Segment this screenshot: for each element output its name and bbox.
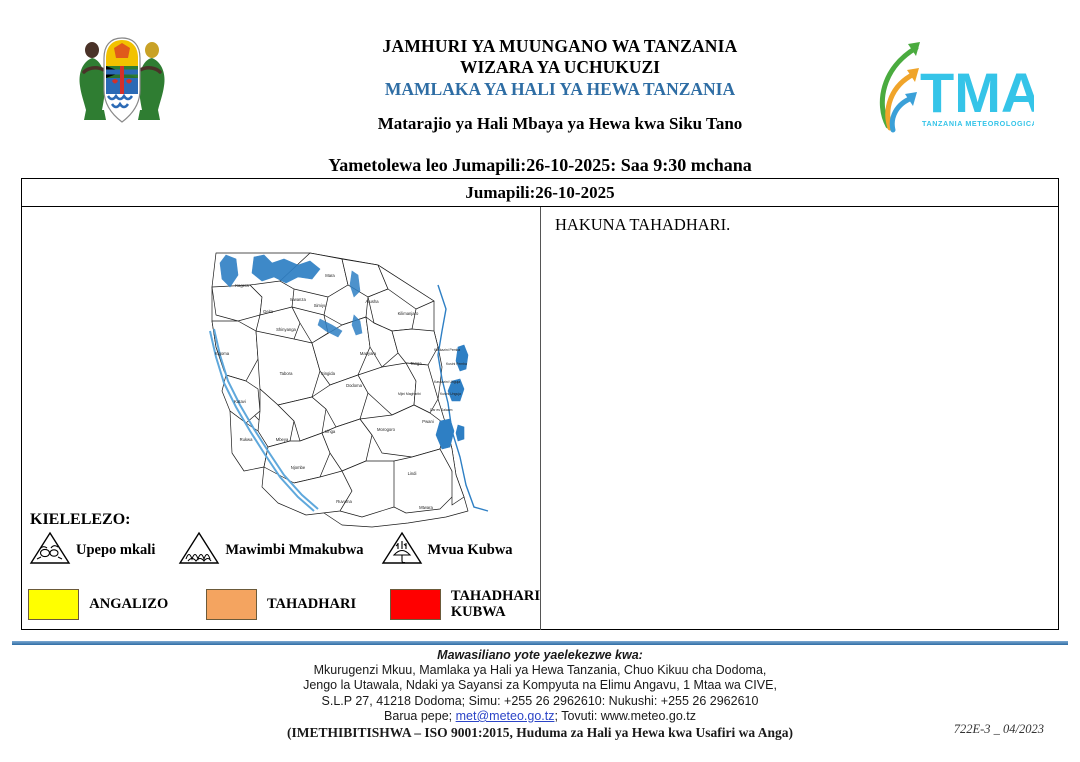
warning-text: HAKUNA TAHADHARI. (555, 215, 1058, 235)
svg-text:Arusha: Arusha (365, 299, 379, 304)
svg-text:Manyara: Manyara (360, 351, 377, 356)
map-legend: KIELELEZO: (28, 511, 540, 624)
forecast-content-row: Kagera Mara Geita Mwanza Simiyu Arusha K… (22, 207, 1058, 630)
map-panel: Kagera Mara Geita Mwanza Simiyu Arusha K… (22, 207, 541, 630)
footer-line-2: Mkurugenzi Mkuu, Mamlaka ya Hali ya Hewa… (0, 663, 1080, 678)
svg-text:Katavi: Katavi (234, 399, 246, 404)
svg-text:Pwani: Pwani (422, 419, 433, 424)
svg-text:Dar es Salaam: Dar es Salaam (430, 408, 453, 412)
svg-text:Tanga: Tanga (410, 361, 422, 366)
document-reference-code: 722E-3 _ 04/2023 (954, 722, 1044, 737)
footer-email-prefix: Barua pepe; (384, 709, 456, 723)
legend-label-heavy-rain: Mvua Kubwa (428, 542, 513, 559)
legend-label-high-waves: Mawimbi Mmakubwa (225, 542, 363, 559)
svg-text:Kigoma: Kigoma (215, 351, 230, 356)
svg-text:Ruvuma: Ruvuma (336, 499, 352, 504)
svg-text:Njombe: Njombe (291, 465, 306, 470)
header-subtitle: Matarajio ya Hali Mbaya ya Hewa kwa Siku… (250, 114, 870, 134)
legend-item-high-waves: Mawimbi Mmakubwa (177, 529, 363, 572)
svg-text:Simiyu: Simiyu (314, 303, 327, 308)
tanzania-coat-of-arms (62, 28, 182, 136)
heavy-rain-icon (380, 529, 424, 572)
header-line-2: WIZARA YA UCHUKUZI (250, 57, 870, 78)
swatch-angalizo (28, 589, 79, 620)
svg-text:Kaskazini Unguja: Kaskazini Unguja (434, 380, 460, 384)
bulletin-table: Jumapili:26-10-2025 (21, 178, 1059, 630)
header-line-1: JAMHURI YA MUUNGANO WA TANZANIA (250, 36, 870, 57)
header-titles: JAMHURI YA MUUNGANO WA TANZANIA WIZARA Y… (250, 36, 870, 134)
svg-text:Morogoro: Morogoro (377, 427, 396, 432)
svg-text:Tabora: Tabora (280, 371, 293, 376)
swatch-tahadhari (206, 589, 257, 620)
svg-text:Dodoma: Dodoma (346, 383, 362, 388)
swatch-label-angalizo: ANGALIZO (89, 596, 168, 612)
svg-text:Geita: Geita (263, 309, 274, 314)
legend-color-scale: ANGALIZO TAHADHARI TAHADHARI KUBWA (28, 584, 540, 624)
svg-text:Mbeya: Mbeya (276, 437, 289, 442)
svg-text:TMA: TMA (920, 61, 1034, 124)
footer-line-3: Jengo la Utawala, Ndaki ya Sayansi za Ko… (0, 678, 1080, 693)
svg-text:Kagera: Kagera (235, 283, 249, 288)
svg-text:TANZANIA METEOROLOGICAL AUTHOR: TANZANIA METEOROLOGICAL AUTHORITY (922, 119, 1034, 128)
footer-contact-line: Barua pepe; met@meteo.go.tz; Tovuti: www… (0, 709, 1080, 724)
footer-divider (12, 641, 1068, 645)
svg-text:Kusini Unguja: Kusini Unguja (440, 392, 461, 396)
forecast-date-header: Jumapili:26-10-2025 (22, 179, 1058, 207)
svg-text:Singida: Singida (321, 371, 336, 376)
svg-text:Rukwa: Rukwa (240, 437, 253, 442)
svg-text:Mwanza: Mwanza (290, 297, 306, 302)
legend-title: KIELELEZO: (30, 511, 540, 529)
svg-text:Shinyanga: Shinyanga (276, 327, 296, 332)
document-footer: Mawasiliano yote yaelekezwe kwa: Mkuruge… (0, 648, 1080, 740)
svg-text:Kaskazini Pemba: Kaskazini Pemba (434, 348, 460, 352)
header-line-3: MAMLAKA YA HALI YA HEWA TANZANIA (250, 78, 870, 100)
footer-iso-line: (IMETHIBITISHWA – ISO 9001:2015, Huduma … (0, 725, 1080, 740)
footer-line-4: S.L.P 27, 41218 Dodoma; Simu: +255 26 29… (0, 694, 1080, 709)
strong-wind-icon (28, 529, 72, 572)
tanzania-regions-map[interactable]: Kagera Mara Geita Mwanza Simiyu Arusha K… (177, 235, 517, 535)
swatch-tahadhari-kubwa (390, 589, 441, 620)
swatch-label-tahadhari: TAHADHARI (267, 596, 356, 612)
issued-datetime: Yametolewa leo Jumapili:26-10-2025: Saa … (0, 155, 1080, 176)
legend-item-strong-wind: Upepo mkali (28, 529, 155, 572)
svg-text:Kilimanjaro: Kilimanjaro (398, 311, 419, 316)
legend-label-strong-wind: Upepo mkali (76, 542, 155, 559)
high-waves-icon (177, 529, 221, 572)
footer-line-1: Mawasiliano yote yaelekezwe kwa: (0, 648, 1080, 663)
legend-symbols: Upepo mkali (28, 530, 540, 570)
tma-logo: TMA TANZANIA METEOROLOGICAL AUTHORITY (862, 34, 1034, 138)
footer-website: ; Tovuti: www.meteo.go.tz (554, 709, 696, 723)
legend-item-heavy-rain: Mvua Kubwa (380, 529, 513, 572)
svg-text:Iringa: Iringa (325, 429, 336, 434)
warning-text-panel: HAKUNA TAHADHARI. (541, 207, 1058, 630)
document-header: JAMHURI YA MUUNGANO WA TANZANIA WIZARA Y… (0, 0, 1080, 150)
svg-text:Mjini Magharibi: Mjini Magharibi (398, 392, 421, 396)
swatch-label-tahadhari-kubwa: TAHADHARI KUBWA (451, 588, 540, 620)
footer-email-link[interactable]: met@meteo.go.tz (456, 709, 555, 723)
svg-text:Mtwara: Mtwara (419, 505, 433, 510)
svg-text:Lindi: Lindi (408, 471, 417, 476)
svg-text:Mara: Mara (325, 273, 335, 278)
svg-text:Kusini Pemba: Kusini Pemba (446, 362, 467, 366)
